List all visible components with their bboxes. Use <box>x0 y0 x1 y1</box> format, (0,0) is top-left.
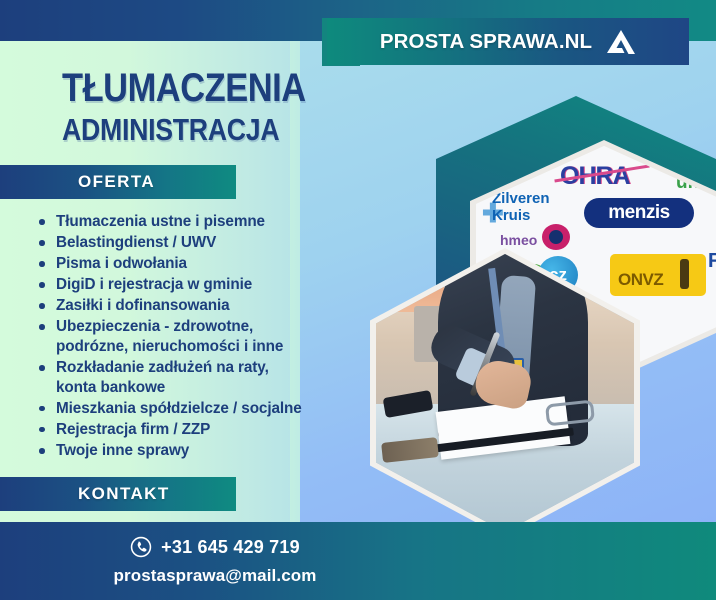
contact-email: prostasprawa@mail.com <box>0 566 430 586</box>
section-badge-kontakt: KONTAKT <box>0 477 236 511</box>
contact-phone-number: +31 645 429 719 <box>161 537 300 558</box>
logo-dot-mark <box>542 224 570 250</box>
offer-list-item: DigiD i rejestracja w gminie <box>36 275 366 295</box>
section-badge-oferta-label: OFERTA <box>78 172 155 192</box>
poster-canvas: PROSTA SPRAWA.NL TŁUMACZENIA ADMINISTRAC… <box>0 0 716 600</box>
brand-logo-bar[interactable]: PROSTA SPRAWA.NL <box>327 18 689 65</box>
offer-list-item: Rozkładanie zadłużeń na raty,konta banko… <box>36 358 366 397</box>
offer-list-item: Pisma i odwołania <box>36 254 366 274</box>
logo-ohra: OHRA <box>560 162 630 191</box>
logo-f-mark: F <box>708 250 716 273</box>
section-badge-oferta: OFERTA <box>0 165 236 199</box>
offer-list-item: Mieszkania spółdzielcze / socjalne <box>36 399 366 419</box>
contact-phone-row[interactable]: +31 645 429 719 <box>0 533 430 561</box>
section-badge-kontakt-label: KONTAKT <box>78 484 170 504</box>
logo-zilveren-kruis: ZilverenKruis <box>492 190 550 224</box>
brand-name: PROSTA SPRAWA.NL <box>380 30 592 54</box>
offer-list-item: Zasiłki i dofinansowania <box>36 296 366 316</box>
offer-list-item: Tłumaczenia ustne i pisemne <box>36 212 366 232</box>
offer-list-item: Twoje inne sprawy <box>36 441 366 461</box>
logo-hmeo: hmeo <box>500 232 537 248</box>
offer-list-item: Belastingdienst / UWV <box>36 233 366 253</box>
phone-circle-icon <box>130 536 152 558</box>
offer-list-item: Ubezpieczenia - zdrowotne,podrózne, nier… <box>36 317 366 356</box>
page-title-line2: ADMINISTRACJA <box>62 114 320 145</box>
triangle-mountain-a-icon <box>606 29 636 55</box>
logo-menzis: menzis <box>584 198 694 228</box>
page-title-line1: TŁUMACZENIA <box>62 68 320 108</box>
logo-onvz: ONVZ <box>610 254 706 296</box>
offer-list-item: Rejestracja firm / ZZP <box>36 420 366 440</box>
offer-list: Tłumaczenia ustne i pisemneBelastingdien… <box>36 212 366 462</box>
